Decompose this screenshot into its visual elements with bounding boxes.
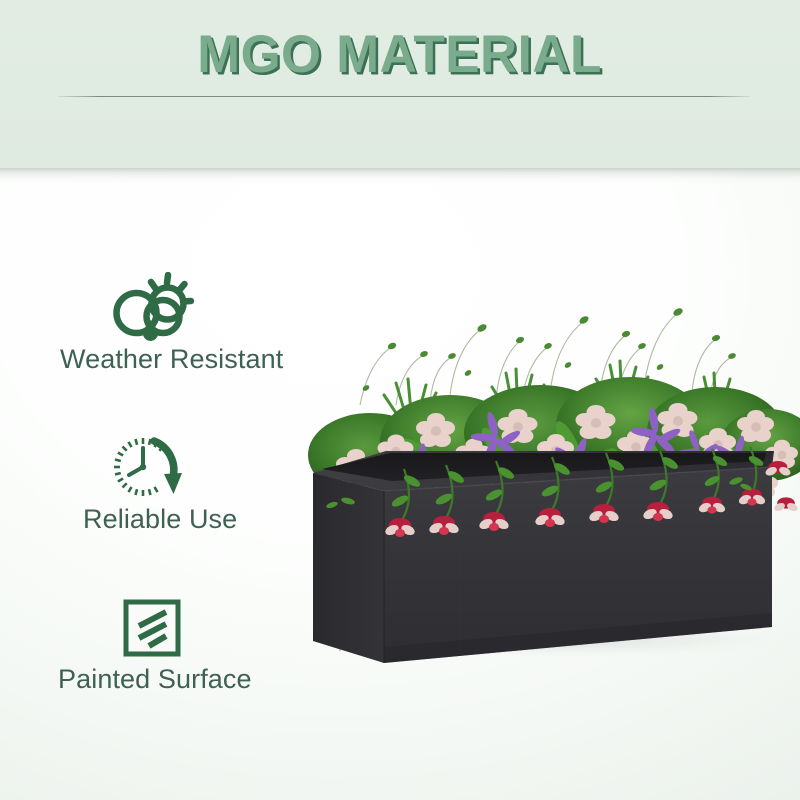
feature-icon-container xyxy=(0,272,330,344)
painted-surface-icon xyxy=(110,592,182,664)
product-planter-image xyxy=(300,255,800,675)
feature-reliable-use: Reliable Use xyxy=(0,432,330,535)
feature-weather-resistant: Weather Resistant xyxy=(0,272,330,375)
sun-cloud-rain-icon xyxy=(110,272,196,344)
feature-painted-surface: Painted Surface xyxy=(0,592,330,695)
image-canvas: MGO MATERIAL xyxy=(0,0,800,800)
page-title: MGO MATERIAL xyxy=(198,24,603,85)
feature-label: Painted Surface xyxy=(0,664,330,695)
feature-label: Weather Resistant xyxy=(0,344,330,375)
feature-label: Reliable Use xyxy=(0,504,330,535)
header-divider xyxy=(58,96,750,97)
header-drop-shadow xyxy=(0,168,800,184)
planter-box xyxy=(313,451,774,663)
feature-icon-container xyxy=(0,592,330,664)
header-band: MGO MATERIAL xyxy=(0,0,800,168)
clock-arrow-icon xyxy=(110,432,190,504)
page-title-wrapper: MGO MATERIAL xyxy=(0,24,800,85)
feature-icon-container xyxy=(0,432,330,504)
